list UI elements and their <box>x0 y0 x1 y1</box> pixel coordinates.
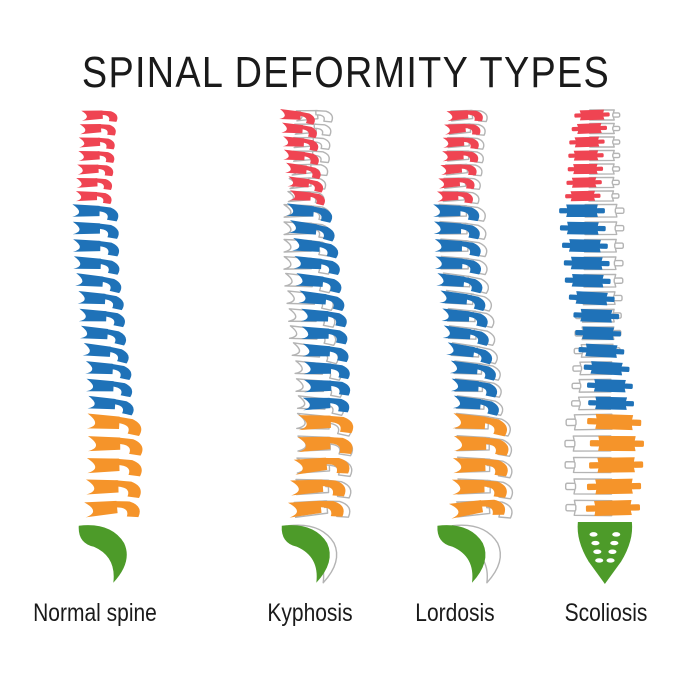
vertebra-lumbar <box>87 413 142 436</box>
vertebra-thoracic <box>295 273 342 293</box>
caption-lordosis-spine: Lordosis <box>400 600 509 628</box>
spine-figures-row <box>0 96 692 596</box>
vertebra-lumbar <box>84 497 140 522</box>
vertebra-thoracic <box>87 396 134 416</box>
vertebra-thoracic <box>77 291 124 310</box>
sacrum <box>79 525 127 583</box>
vertebra-thoracic <box>85 361 132 380</box>
vertebra-cervical <box>76 191 112 204</box>
vertebra-thoracic <box>79 309 126 327</box>
spine-figure-normal-spine <box>22 96 172 586</box>
page-title: SPINAL DEFORMITY TYPES <box>48 51 643 95</box>
vertebra-lumbar <box>86 478 141 499</box>
vertebra-thoracic <box>86 379 133 397</box>
vertebra-thoracic <box>441 309 488 328</box>
vertebra-lumbar <box>453 457 508 478</box>
spine-figure-scoliosis-spine <box>530 96 680 586</box>
sacrum <box>578 522 633 584</box>
vertebra-thoracic <box>302 344 349 362</box>
vertebra-cervical <box>81 109 117 124</box>
vertebra-lumbar <box>452 413 508 436</box>
vertebra-lumbar <box>87 457 142 478</box>
kyphosis-spine-diagram <box>235 96 385 596</box>
vertebra-lumbar <box>88 436 143 456</box>
vertebra-thoracic <box>75 273 122 293</box>
vertebra-thoracic <box>82 343 129 364</box>
caption-scoliosis-spine: Scoliosis <box>549 600 663 628</box>
normal-spine-diagram <box>22 96 172 596</box>
vertebra-thoracic <box>80 326 127 346</box>
vertebra-cervical <box>80 122 116 137</box>
spine-column <box>72 109 142 583</box>
vertebra-thoracic <box>304 362 351 380</box>
vertebra-cervical <box>289 190 325 205</box>
vertebra-thoracic <box>73 222 119 239</box>
vertebra-cervical <box>77 163 113 178</box>
lordosis-spine-diagram <box>382 96 532 596</box>
vertebra-thoracic <box>439 290 486 311</box>
spine-figure-kyphosis-spine <box>235 96 385 586</box>
vertebra-thoracic <box>72 204 118 221</box>
vertebra-cervical <box>78 150 114 164</box>
vertebra-thoracic <box>304 379 350 396</box>
vertebra-lumbar <box>449 495 506 523</box>
vertebra-lumbar <box>288 497 344 523</box>
vertebra-thoracic <box>436 273 483 293</box>
vertebra-thoracic <box>73 256 120 275</box>
caption-kyphosis-spine: Kyphosis <box>251 600 369 628</box>
vertebra-thoracic <box>73 239 119 256</box>
spine-captions-row: Normal spineKyphosisLordosisScoliosis <box>0 600 692 646</box>
scoliosis-spine-diagram <box>530 96 680 596</box>
caption-normal-spine: Normal spine <box>32 600 158 628</box>
vertebra-thoracic <box>451 379 498 398</box>
spine-figure-lordosis-spine <box>382 96 532 586</box>
vertebra-cervical <box>79 136 115 151</box>
vertebra-thoracic <box>453 396 500 416</box>
vertebra-thoracic <box>294 256 341 275</box>
spinal-deformity-poster: SPINAL DEFORMITY TYPES Normal spineKypho… <box>0 0 692 692</box>
vertebra-cervical <box>76 177 112 191</box>
vertebra-thoracic <box>286 203 333 222</box>
